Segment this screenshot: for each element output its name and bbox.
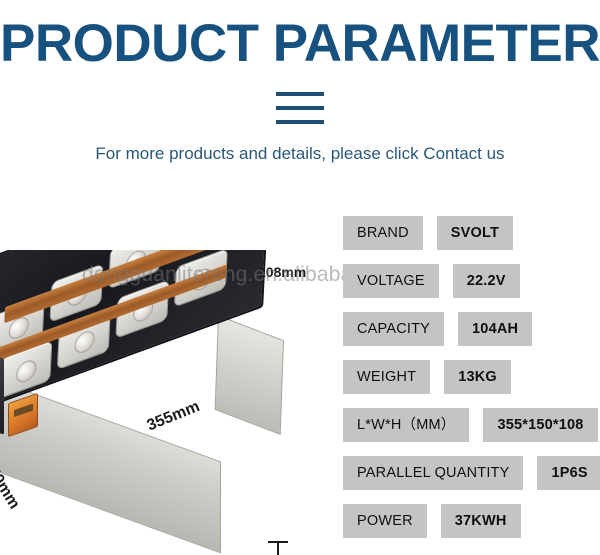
header: PRODUCT PARAMETER For more products and … xyxy=(0,0,600,195)
spec-key: PARALLEL QUANTITY xyxy=(343,456,523,490)
spec-value: 22.2V xyxy=(453,264,520,298)
table-row: PARALLEL QUANTITY 1P6S xyxy=(343,456,600,490)
battery-module-illustration xyxy=(0,258,286,488)
divider-bar-1 xyxy=(276,92,324,96)
spec-key: CAPACITY xyxy=(343,312,444,346)
table-row: CAPACITY 104AH xyxy=(343,312,600,346)
battery-end-cap xyxy=(0,349,4,434)
spec-key: VOLTAGE xyxy=(343,264,439,298)
product-parameter-page: PRODUCT PARAMETER For more products and … xyxy=(0,0,600,555)
page-title: PRODUCT PARAMETER xyxy=(0,14,600,74)
height-caliper-line xyxy=(277,541,279,555)
table-row: VOLTAGE 22.2V xyxy=(343,264,600,298)
dimension-label-height: 108mm xyxy=(258,264,306,280)
table-row: POWER 37KWH xyxy=(343,504,600,538)
specification-table: BRAND SVOLT VOLTAGE 22.2V CAPACITY 104AH… xyxy=(343,216,600,552)
spec-value: SVOLT xyxy=(437,216,513,250)
table-row: L*W*H（MM） 355*150*108 xyxy=(343,408,600,442)
table-row: WEIGHT 13KG xyxy=(343,360,600,394)
hamburger-divider-icon xyxy=(276,92,324,125)
spec-value: 13KG xyxy=(444,360,511,394)
spec-value: 1P6S xyxy=(537,456,600,490)
spec-key: BRAND xyxy=(343,216,423,250)
height-caliper-tick-top xyxy=(268,541,288,543)
page-subtitle: For more products and details, please cl… xyxy=(0,143,600,165)
spec-key: L*W*H（MM） xyxy=(343,408,469,442)
divider-bar-2 xyxy=(276,106,324,110)
spec-value: 355*150*108 xyxy=(483,408,597,442)
spec-value: 37KWH xyxy=(441,504,521,538)
spec-key: POWER xyxy=(343,504,427,538)
table-row: BRAND SVOLT xyxy=(343,216,600,250)
spec-key: WEIGHT xyxy=(343,360,430,394)
product-image xyxy=(0,250,336,555)
spec-value: 104AH xyxy=(458,312,532,346)
divider-bar-3 xyxy=(276,120,324,124)
battery-end-face xyxy=(215,315,284,435)
